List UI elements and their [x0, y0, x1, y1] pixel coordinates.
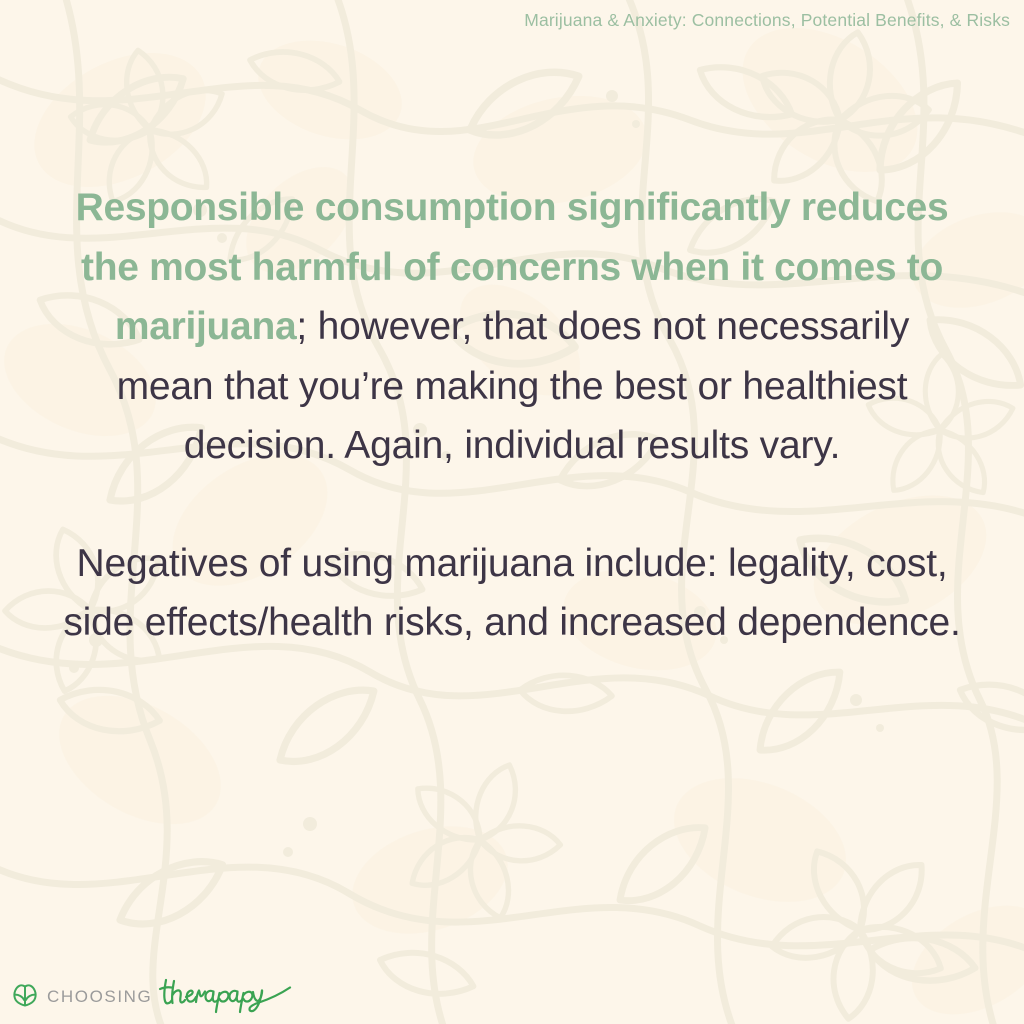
logo-word-choosing: CHOOSING: [47, 986, 152, 1005]
paragraph-lead: Responsible consumption significantly re…: [62, 178, 962, 476]
logo-word-therapy: therapy: [158, 974, 298, 1016]
header-bar: Marijuana & Anxiety: Connections, Potent…: [0, 0, 1024, 40]
slide-content: Responsible consumption significantly re…: [62, 178, 962, 653]
choosing-therapy-logo[interactable]: CHOOSING therapy: [10, 975, 298, 1015]
lotus-leaf-icon: [10, 980, 40, 1010]
slide-canvas: Marijuana & Anxiety: Connections, Potent…: [0, 0, 1024, 1024]
article-title: Marijuana & Anxiety: Connections, Potent…: [524, 10, 1010, 31]
paragraph-negatives: Negatives of using marijuana include: le…: [62, 534, 962, 653]
